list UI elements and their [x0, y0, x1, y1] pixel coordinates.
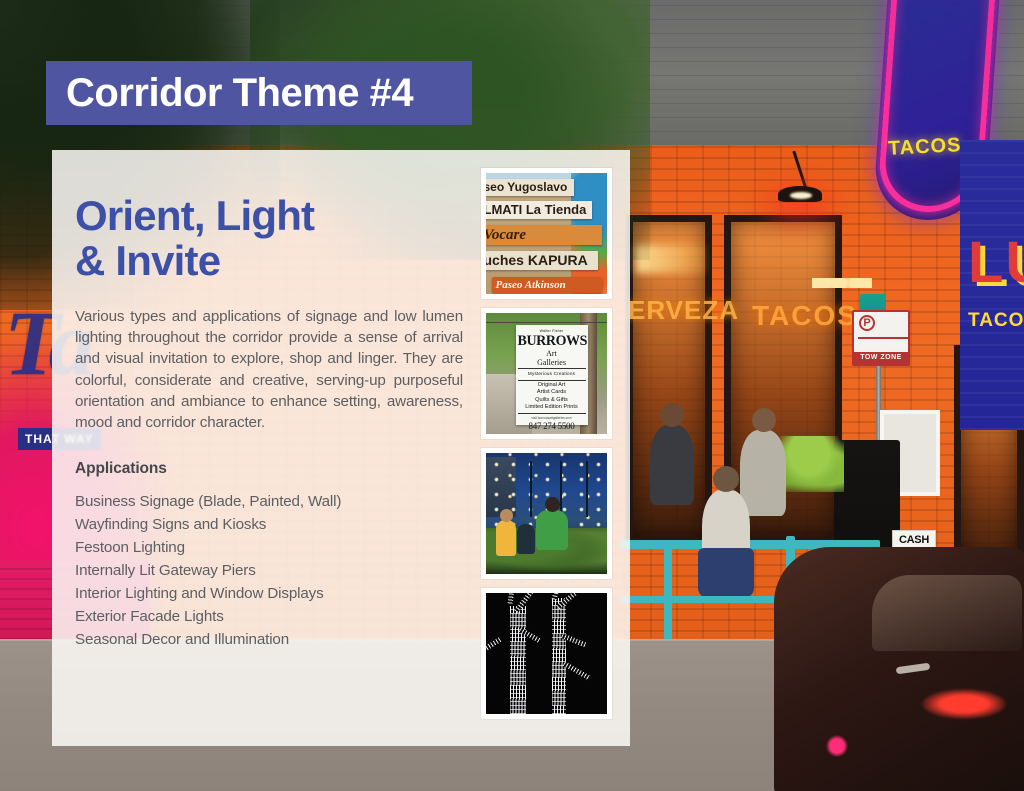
car-rear-window — [872, 575, 1022, 651]
sign-divider — [858, 337, 908, 339]
window-string-lights — [812, 278, 872, 288]
car-taillight — [922, 689, 1006, 719]
applications-heading: Applications — [75, 460, 462, 478]
list-item: Internally Lit Gateway Piers — [75, 559, 462, 582]
seated-person-bench — [702, 490, 750, 580]
page-title: Orient, Light & Invite — [75, 194, 462, 284]
sign-phone: 847 274 5500 — [518, 420, 586, 433]
wayfinding-signs-photo: seo Yugoslavo LMATI La Tienda Vocare uch… — [481, 168, 612, 299]
sign-strip: seo Yugoslavo — [486, 179, 574, 196]
burrows-art-galleries-photo: Walter Fisher BURROWS Art Galleries Myst… — [481, 308, 612, 439]
no-parking-icon: P — [859, 315, 875, 331]
seated-person-window-left — [650, 425, 694, 505]
window-tacos-text: TACOS — [752, 300, 858, 332]
sign-strip-arrow: Vocare — [486, 225, 602, 245]
blue-wall-letters: LU — [968, 234, 1024, 292]
blade-sign-text: TACOS — [887, 134, 962, 161]
lit-tree-trunk-right — [552, 598, 566, 714]
hanging-wire — [486, 322, 607, 323]
sign-item: Original Art — [518, 382, 586, 390]
window-cerveza-text: ERVEZA — [628, 295, 739, 326]
no-parking-tow-zone-sign: P TOW ZONE — [852, 310, 910, 366]
sign-item: Quilts & Gifts — [518, 397, 586, 405]
lit-branch — [507, 593, 514, 604]
panel-photo-column: seo Yugoslavo LMATI La Tienda Vocare uch… — [462, 150, 630, 746]
applications-list: Business Signage (Blade, Painted, Wall) … — [75, 490, 462, 652]
sign-strip: LMATI La Tienda — [486, 201, 592, 219]
list-item: Interior Lighting and Window Displays — [75, 582, 462, 605]
list-item: Festoon Lighting — [75, 536, 462, 559]
sign-line-galleries: Galleries — [518, 359, 586, 369]
person-yellow-shirt — [496, 520, 516, 556]
seated-person-window-right — [740, 430, 786, 516]
list-item: Wayfinding Signs and Kiosks — [75, 513, 462, 536]
light-pole — [530, 461, 532, 517]
blue-wall-tacos-text: TACOS — [968, 310, 1024, 332]
paper-sign: Walter Fisher BURROWS Art Galleries Myst… — [516, 325, 588, 425]
body-paragraph: Various types and applications of signag… — [75, 306, 463, 434]
content-panel: Orient, Light & Invite Various types and… — [52, 150, 630, 746]
sign-item: Limited Edition Prints — [518, 404, 586, 414]
slide-root: Ta THAT WAY ERVEZA TACOS TACOS LU TACOS … — [0, 0, 1024, 791]
sign-item: Artist Cards — [518, 389, 586, 397]
sign-tagline: Mysterious Creations — [518, 371, 586, 381]
person-dark-shirt — [517, 524, 535, 554]
sign-strip: Paseo Atkinson — [492, 277, 602, 293]
corridor-theme-label: Corridor Theme #4 — [66, 73, 413, 113]
list-item: Seasonal Decor and Illumination — [75, 628, 462, 651]
parked-car — [774, 547, 1024, 791]
light-pole — [586, 461, 588, 517]
light-pole — [560, 461, 562, 517]
corridor-theme-bar: Corridor Theme #4 — [46, 61, 472, 125]
car-pink-reflection — [826, 735, 848, 757]
sign-strip: uches KAPURA — [486, 251, 598, 270]
car-door-handle — [896, 663, 931, 675]
patio-rail-post-left — [664, 540, 672, 652]
list-item: Exterior Facade Lights — [75, 605, 462, 628]
lit-branch — [486, 637, 501, 652]
list-item: Business Signage (Blade, Painted, Wall) — [75, 490, 462, 513]
lit-branch — [562, 661, 590, 680]
person-green-shirt — [536, 510, 568, 550]
lit-trees-photo — [481, 588, 612, 719]
cash-label: CASH — [899, 534, 929, 546]
tow-zone-label: TOW ZONE — [854, 352, 908, 364]
sign-brand: BURROWS — [518, 335, 586, 350]
panel-text-column: Orient, Light & Invite Various types and… — [52, 150, 462, 746]
lit-tree-trunk-left — [510, 606, 526, 714]
festoon-lighting-photo — [481, 448, 612, 579]
gooseneck-lamp-bulb — [790, 192, 812, 199]
